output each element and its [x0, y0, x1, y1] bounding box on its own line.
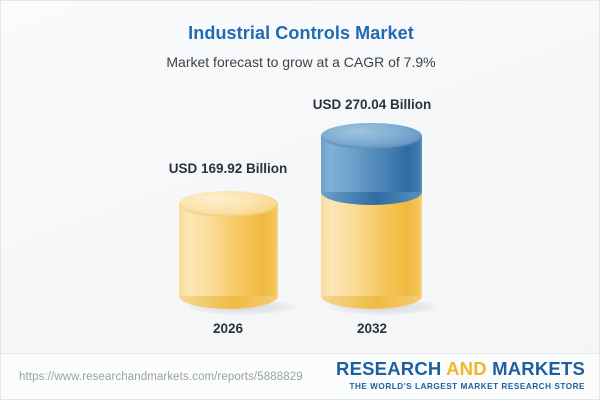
bar-segment-2026-base: [179, 191, 278, 309]
bar-segment-2032-base: [321, 191, 422, 309]
bar-segment-2032-growth: [321, 123, 422, 205]
category-label-2032: 2032: [252, 321, 492, 336]
plot-area: USD 169.92 Billion 2026 USD 270.04 Billi…: [1, 81, 600, 343]
page-title: Industrial Controls Market: [1, 23, 600, 44]
bar-2026[interactable]: [179, 191, 278, 309]
brand-word-research: RESEARCH: [336, 358, 446, 379]
brand-word-markets: MARKETS: [487, 358, 585, 379]
value-label-2026: USD 169.92 Billion: [108, 161, 348, 176]
cylinder-top-cap-2032: [321, 123, 422, 149]
chart-subtitle: Market forecast to grow at a CAGR of 7.9…: [1, 54, 600, 70]
footer-divider: [1, 353, 600, 354]
cylinder-body-2032-base: [321, 191, 422, 296]
brand-word-and: AND: [446, 358, 487, 379]
cylinder-top-cap-2026: [179, 191, 278, 217]
bar-2032[interactable]: [321, 123, 422, 309]
brand-tagline: THE WORLD'S LARGEST MARKET RESEARCH STOR…: [336, 382, 585, 391]
brand-wordmark: RESEARCH AND MARKETS: [336, 360, 585, 379]
brand-logo[interactable]: RESEARCH AND MARKETS THE WORLD'S LARGEST…: [336, 360, 585, 391]
cylinder-body-2026: [179, 204, 278, 296]
value-label-2032: USD 270.04 Billion: [252, 97, 492, 112]
chart-card: Industrial Controls Market Market foreca…: [0, 0, 600, 400]
report-url[interactable]: https://www.researchandmarkets.com/repor…: [19, 371, 303, 383]
